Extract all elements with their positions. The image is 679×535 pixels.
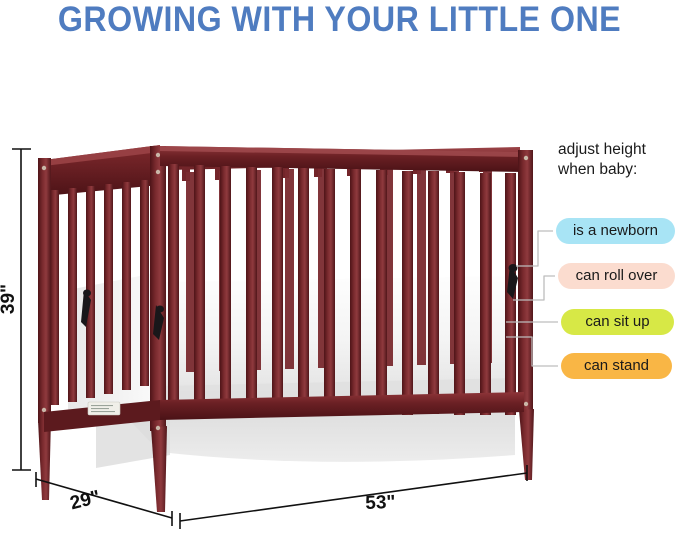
pill-is-a-newborn[interactable]: is a newborn: [556, 218, 675, 244]
dimension-width-label: 53": [365, 492, 396, 515]
annotation-heading-line-1: adjust height: [558, 140, 679, 160]
dimension-height-label: 39": [0, 284, 20, 314]
pill-can-roll-over[interactable]: can roll over: [558, 263, 675, 289]
product-infographic: GROWING WITH YOUR LITTLE ONE: [0, 0, 679, 535]
annotation-heading: adjust height when baby:: [558, 140, 679, 180]
pill-can-sit-up[interactable]: can sit up: [561, 309, 674, 335]
crib-right-post: [518, 150, 534, 480]
annotation-heading-line-2: when baby:: [558, 160, 679, 180]
product-sticker: [88, 402, 120, 415]
pill-can-stand[interactable]: can stand: [561, 353, 672, 379]
